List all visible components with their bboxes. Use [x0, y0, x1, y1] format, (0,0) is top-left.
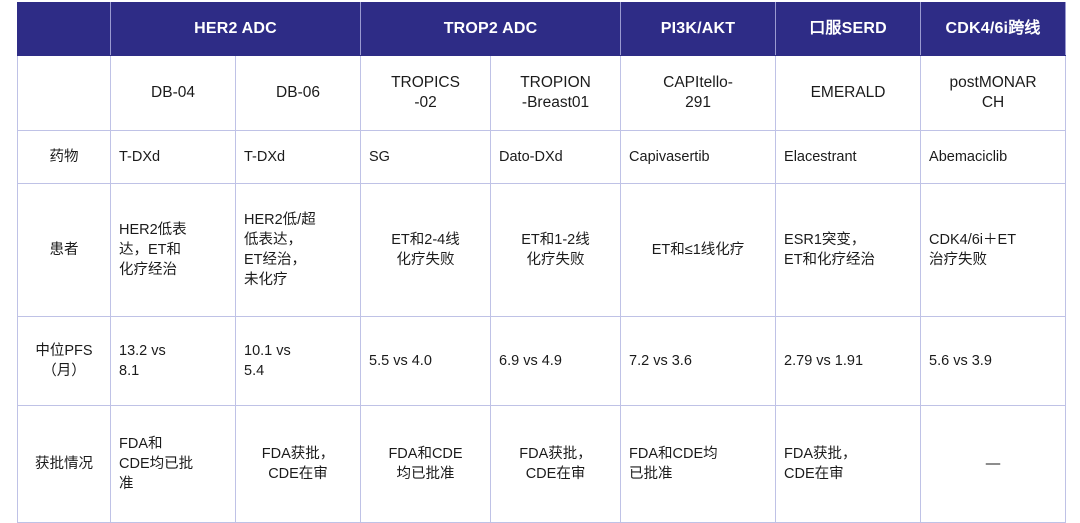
cell-drug-db-04: T-DXd	[111, 131, 236, 184]
table-row: 药物 T-DXd T-DXd SG Dato-DXd Capivasertib …	[18, 131, 1066, 184]
cell-approval-tropics-02: FDA和CDE 均已批准	[361, 406, 491, 523]
trial-postmonarch: postMONAR CH	[921, 56, 1066, 131]
header-group-oral-serd: 口服SERD	[776, 3, 921, 56]
cell-approval-db-04: FDA和 CDE均已批 准	[111, 406, 236, 523]
cell-pfs-tropion-breast01-text: 6.9 vs 4.9	[499, 351, 612, 371]
cell-pfs-db-04: 13.2 vs 8.1	[111, 317, 236, 406]
table-header: HER2 ADC TROP2 ADC PI3K/AKT 口服SERD CDK4/…	[18, 3, 1066, 131]
row-label-drug: 药物	[18, 131, 111, 184]
cell-patient-tropion-breast01: ET和1-2线 化疗失败	[491, 184, 621, 317]
cell-patient-emerald: ESR1突变， ET和化疗经治	[776, 184, 921, 317]
cell-patient-tropics-02: ET和2-4线 化疗失败	[361, 184, 491, 317]
cell-drug-tropion-breast01-text: Dato-DXd	[499, 147, 612, 167]
trial-db-06-label: DB-06	[244, 83, 352, 103]
cell-pfs-postmonarch: 5.6 vs 3.9	[921, 317, 1066, 406]
cell-approval-capitello-291-text: FDA和CDE均 已批准	[629, 444, 767, 484]
cell-drug-postmonarch-text: Abemaciclib	[929, 147, 1057, 167]
cell-patient-db-06-text: HER2低/超 低表达， ET经治， 未化疗	[244, 210, 352, 290]
row-label-patient: 患者	[18, 184, 111, 317]
cell-patient-db-06: HER2低/超 低表达， ET经治， 未化疗	[236, 184, 361, 317]
trial-tropion-breast01-label: TROPION -Breast01	[499, 73, 612, 114]
trial-emerald-label: EMERALD	[784, 83, 912, 103]
cell-drug-postmonarch: Abemaciclib	[921, 131, 1066, 184]
cell-pfs-db-06: 10.1 vs 5.4	[236, 317, 361, 406]
header-group-cdk46i: CDK4/6i跨线	[921, 3, 1066, 56]
table-body: 药物 T-DXd T-DXd SG Dato-DXd Capivasertib …	[18, 131, 1066, 523]
header-group-row: HER2 ADC TROP2 ADC PI3K/AKT 口服SERD CDK4/…	[18, 3, 1066, 56]
cell-drug-tropics-02-text: SG	[369, 147, 482, 167]
table-row: 获批情况 FDA和 CDE均已批 准 FDA获批， CDE在审 FDA和CDE …	[18, 406, 1066, 523]
trial-db-04-label: DB-04	[119, 83, 227, 103]
trial-tropics-02: TROPICS -02	[361, 56, 491, 131]
cell-approval-emerald-text: FDA获批， CDE在审	[784, 444, 912, 484]
cell-approval-tropion-breast01: FDA获批， CDE在审	[491, 406, 621, 523]
cell-patient-db-04: HER2低表 达，ET和 化疗经治	[111, 184, 236, 317]
cell-drug-tropion-breast01: Dato-DXd	[491, 131, 621, 184]
cell-patient-db-04-text: HER2低表 达，ET和 化疗经治	[119, 220, 227, 280]
cell-approval-postmonarch-text: —	[929, 454, 1057, 474]
table-sheet: HER2 ADC TROP2 ADC PI3K/AKT 口服SERD CDK4/…	[0, 0, 1080, 510]
breast-cancer-trial-comparison-table: HER2 ADC TROP2 ADC PI3K/AKT 口服SERD CDK4/…	[17, 2, 1066, 523]
cell-approval-db-06-text: FDA获批， CDE在审	[244, 444, 352, 484]
trial-tropics-02-label: TROPICS -02	[369, 73, 482, 114]
header-group-pi3k-akt: PI3K/AKT	[621, 3, 776, 56]
cell-approval-emerald: FDA获批， CDE在审	[776, 406, 921, 523]
cell-pfs-db-04-text: 13.2 vs 8.1	[119, 341, 227, 381]
cell-approval-tropics-02-text: FDA和CDE 均已批准	[369, 444, 482, 484]
cell-patient-tropion-breast01-text: ET和1-2线 化疗失败	[499, 230, 612, 270]
cell-patient-postmonarch-text: CDK4/6i＋ET 治疗失败	[929, 230, 1057, 270]
cell-drug-capitello-291-text: Capivasertib	[629, 147, 767, 167]
cell-patient-capitello-291-text: ET和≤1线化疗	[629, 240, 767, 260]
trial-tropion-breast01: TROPION -Breast01	[491, 56, 621, 131]
cell-approval-capitello-291: FDA和CDE均 已批准	[621, 406, 776, 523]
cell-drug-db-06: T-DXd	[236, 131, 361, 184]
cell-drug-db-06-text: T-DXd	[244, 147, 352, 167]
cell-drug-capitello-291: Capivasertib	[621, 131, 776, 184]
cell-pfs-postmonarch-text: 5.6 vs 3.9	[929, 351, 1057, 371]
cell-drug-tropics-02: SG	[361, 131, 491, 184]
cell-pfs-emerald: 2.79 vs 1.91	[776, 317, 921, 406]
header-trial-row: DB-04 DB-06 TROPICS -02 TROPION -Breast0…	[18, 56, 1066, 131]
cell-pfs-capitello-291: 7.2 vs 3.6	[621, 317, 776, 406]
row-label-drug-text: 药物	[26, 147, 102, 167]
row-label-patient-text: 患者	[26, 240, 102, 260]
cell-patient-emerald-text: ESR1突变， ET和化疗经治	[784, 230, 912, 270]
cell-pfs-capitello-291-text: 7.2 vs 3.6	[629, 351, 767, 371]
trial-capitello-291-label: CAPItello- 291	[629, 73, 767, 114]
row-label-median-pfs-text: 中位PFS （月）	[26, 341, 102, 381]
cell-approval-postmonarch: —	[921, 406, 1066, 523]
cell-drug-emerald: Elacestrant	[776, 131, 921, 184]
cell-drug-emerald-text: Elacestrant	[784, 147, 912, 167]
trial-postmonarch-label: postMONAR CH	[929, 73, 1057, 114]
row-label-median-pfs: 中位PFS （月）	[18, 317, 111, 406]
trial-row-blank	[18, 56, 111, 131]
row-label-approval-status: 获批情况	[18, 406, 111, 523]
row-label-approval-status-text: 获批情况	[26, 454, 102, 474]
header-group-trop2-adc: TROP2 ADC	[361, 3, 621, 56]
table-row: 中位PFS （月） 13.2 vs 8.1 10.1 vs 5.4 5.5 vs…	[18, 317, 1066, 406]
cell-drug-db-04-text: T-DXd	[119, 147, 227, 167]
cell-patient-tropics-02-text: ET和2-4线 化疗失败	[369, 230, 482, 270]
cell-approval-db-04-text: FDA和 CDE均已批 准	[119, 434, 227, 494]
trial-emerald: EMERALD	[776, 56, 921, 131]
trial-db-06: DB-06	[236, 56, 361, 131]
cell-pfs-db-06-text: 10.1 vs 5.4	[244, 341, 352, 381]
trial-capitello-291: CAPItello- 291	[621, 56, 776, 131]
cell-approval-db-06: FDA获批， CDE在审	[236, 406, 361, 523]
trial-db-04: DB-04	[111, 56, 236, 131]
cell-pfs-tropics-02-text: 5.5 vs 4.0	[369, 351, 482, 371]
header-group-her2-adc: HER2 ADC	[111, 3, 361, 56]
header-group-blank	[18, 3, 111, 56]
cell-pfs-emerald-text: 2.79 vs 1.91	[784, 351, 912, 371]
table-row: 患者 HER2低表 达，ET和 化疗经治 HER2低/超 低表达， ET经治， …	[18, 184, 1066, 317]
cell-patient-postmonarch: CDK4/6i＋ET 治疗失败	[921, 184, 1066, 317]
cell-approval-tropion-breast01-text: FDA获批， CDE在审	[499, 444, 612, 484]
cell-pfs-tropics-02: 5.5 vs 4.0	[361, 317, 491, 406]
cell-patient-capitello-291: ET和≤1线化疗	[621, 184, 776, 317]
cell-pfs-tropion-breast01: 6.9 vs 4.9	[491, 317, 621, 406]
